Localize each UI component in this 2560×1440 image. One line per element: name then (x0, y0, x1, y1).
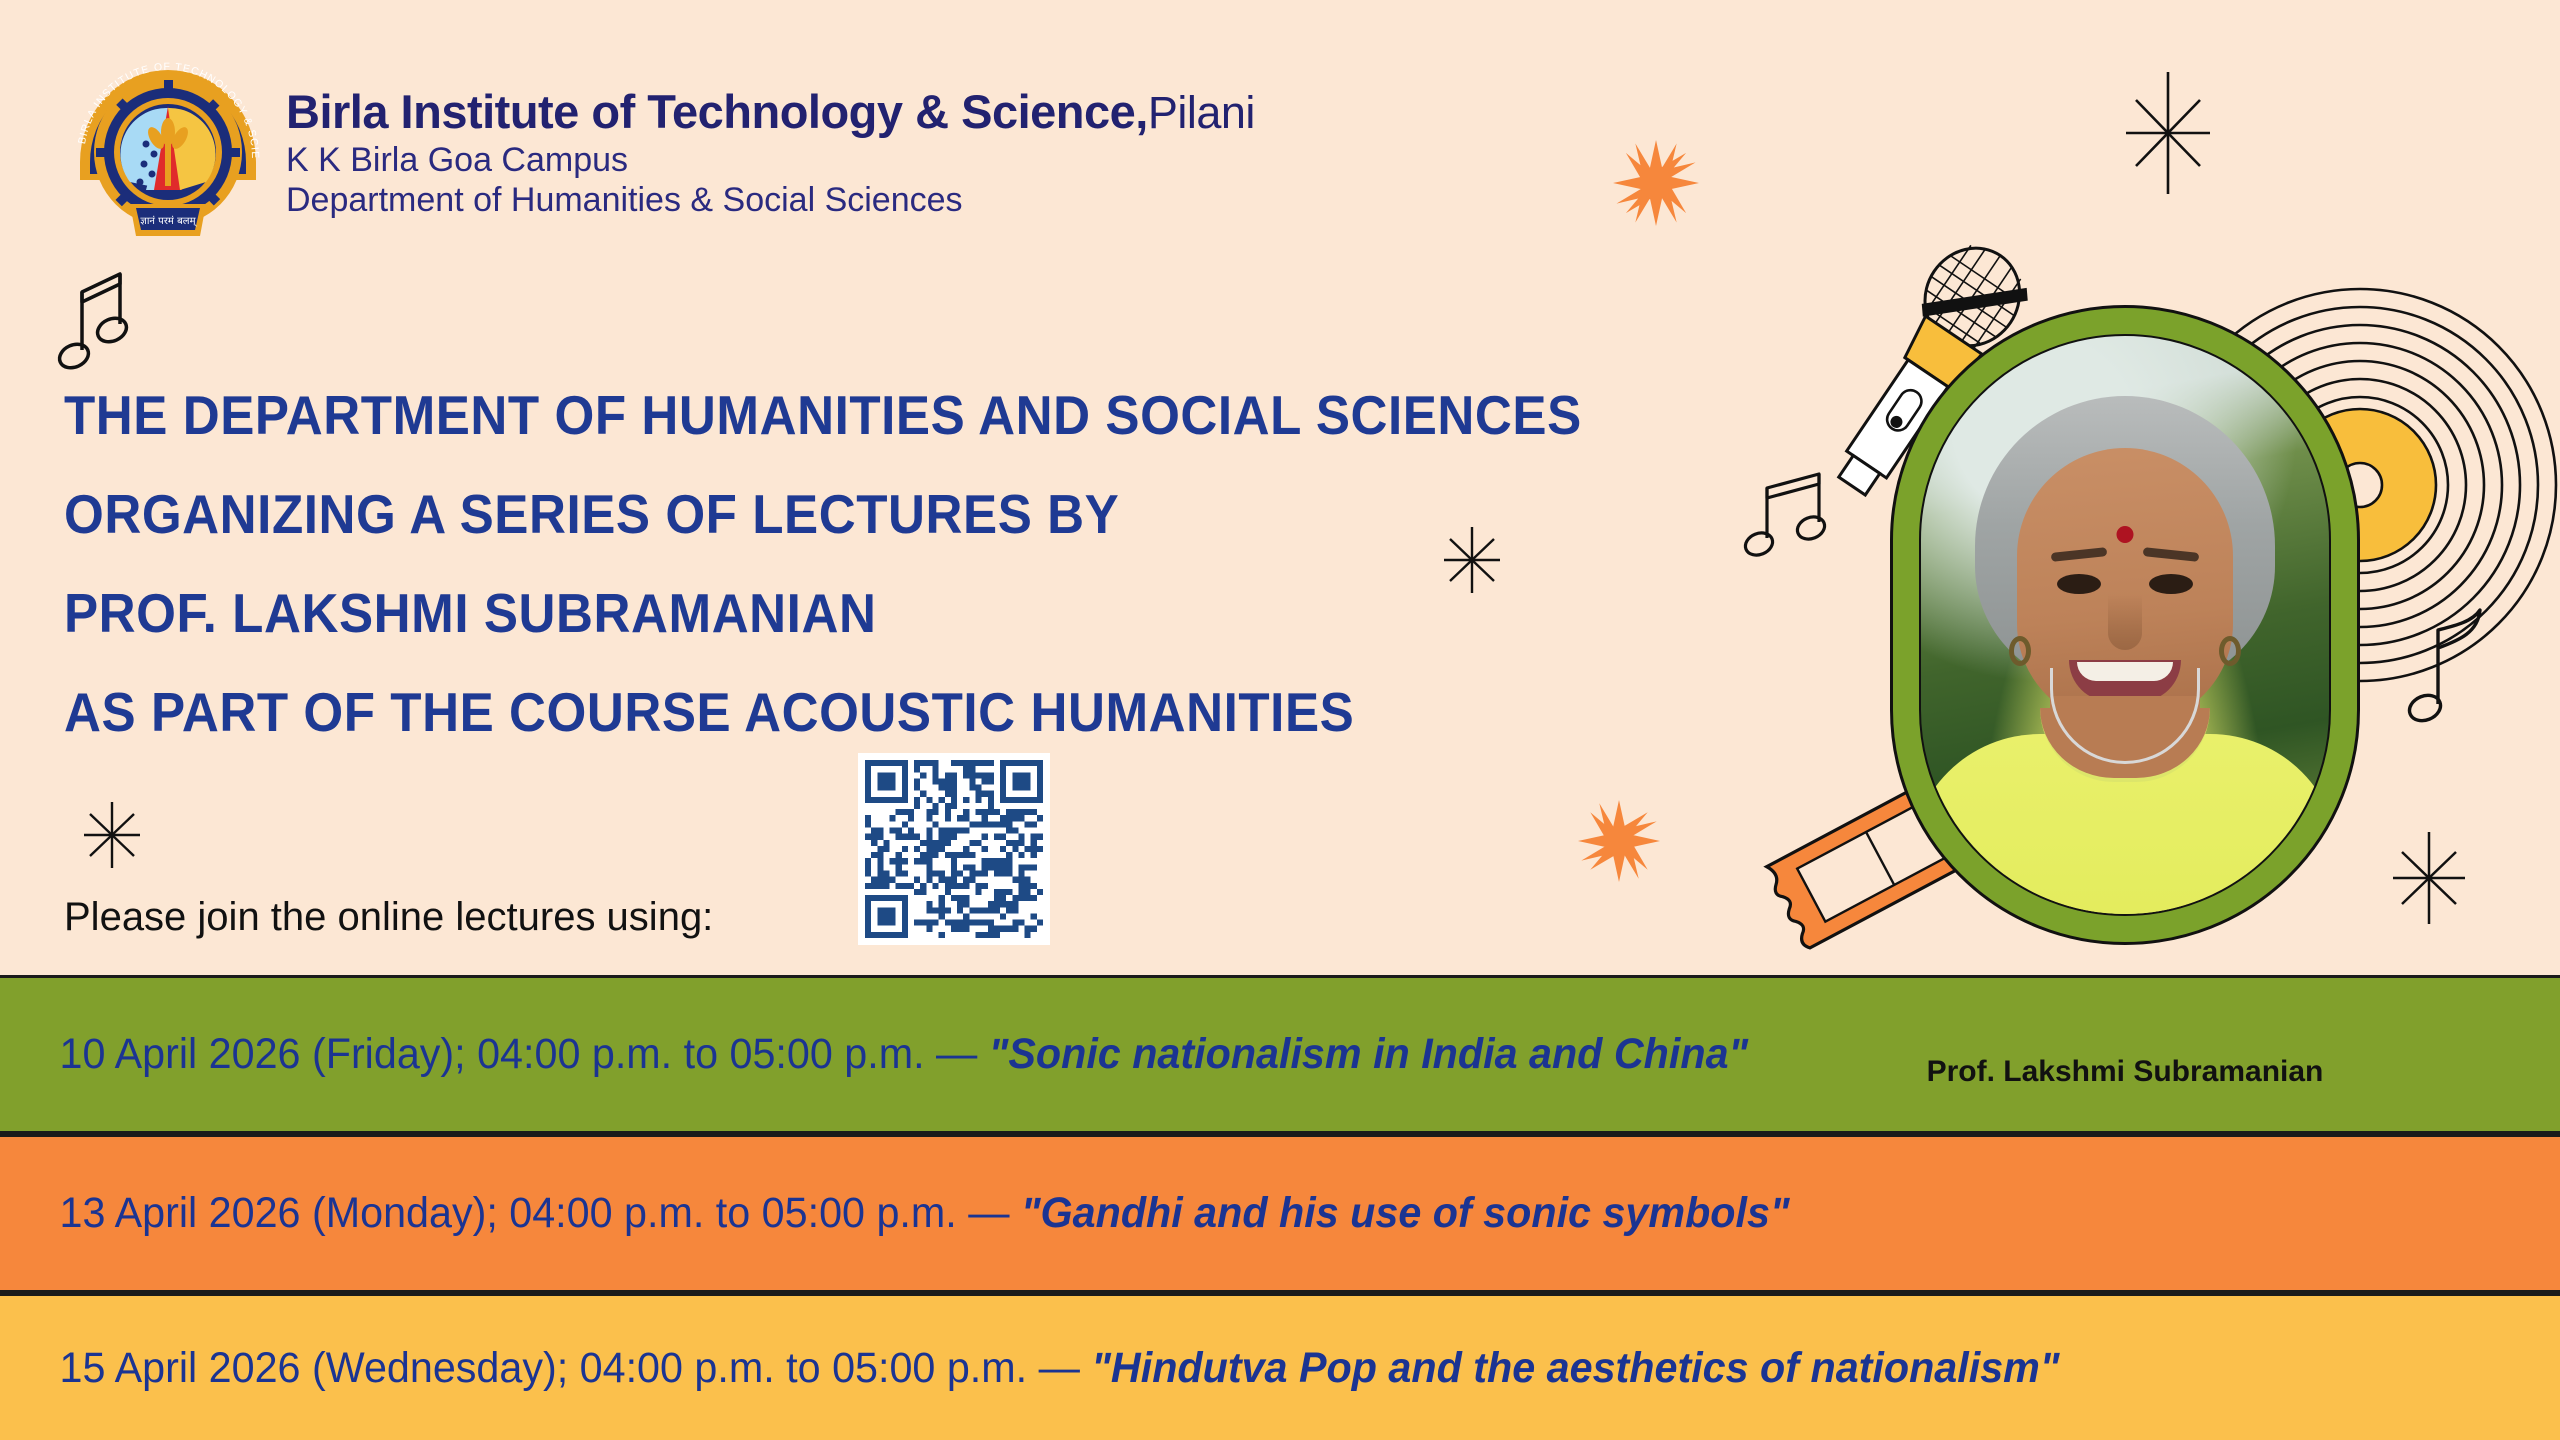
lecture-text-2: 13 April 2026 (Monday); 04:00 p.m. to 05… (0, 1189, 1790, 1238)
lecture-datetime-1: 10 April 2026 (Friday); 04:00 p.m. to 05… (60, 1030, 989, 1078)
portrait-eye-left (2057, 574, 2101, 594)
asterisk-star-icon (80, 800, 144, 870)
lecture-row-3: 15 April 2026 (Wednesday); 04:00 p.m. to… (0, 1293, 2560, 1440)
lecture-title-1: "Sonic nationalism in India and China" (989, 1030, 1748, 1078)
campus-name: K K Birla Goa Campus (286, 143, 1255, 179)
starburst-icon (1613, 140, 1699, 226)
department-name: Department of Humanities & Social Scienc… (286, 183, 1255, 219)
lecture-datetime-2: 13 April 2026 (Monday); 04:00 p.m. to 05… (60, 1189, 1021, 1237)
music-note-icon (60, 258, 148, 378)
portrait-bindi (2117, 526, 2134, 543)
speaker-caption: Prof. Lakshmi Subramanian (1890, 1055, 2360, 1089)
lecture-title-3: "Hindutva Pop and the aesthetics of nati… (1091, 1344, 2059, 1392)
institute-name-pilani: Pilani (1148, 87, 1255, 138)
portrait-earring-left (2009, 636, 2031, 666)
institute-titles: Birla Institute of Technology & Science,… (286, 40, 1255, 218)
join-instruction: Please join the online lectures using: (64, 895, 713, 940)
portrait-nose (2108, 594, 2142, 650)
qr-code-canvas (865, 760, 1043, 938)
bits-pilani-emblem-icon: ज्ञानं परमं बलम् BIRLA INSTITUTE OF TECH… (68, 40, 268, 245)
starburst-icon (1578, 800, 1660, 882)
music-note-icon (1745, 468, 1845, 564)
asterisk-star-icon (2122, 70, 2214, 196)
headline-line-2: ORGANIZING A SERIES OF LECTURES BY (64, 465, 1582, 564)
portrait-earring-right (2219, 636, 2241, 666)
lecture-text-3: 15 April 2026 (Wednesday); 04:00 p.m. to… (0, 1344, 2059, 1393)
lecture-row-2: 13 April 2026 (Monday); 04:00 p.m. to 05… (0, 1134, 2560, 1293)
portrait-eye-right (2149, 574, 2193, 594)
speaker-photo (1919, 334, 2331, 916)
lecture-datetime-3: 15 April 2026 (Wednesday); 04:00 p.m. to… (60, 1344, 1092, 1392)
lecture-text-1: 10 April 2026 (Friday); 04:00 p.m. to 05… (0, 1030, 1748, 1079)
qr-code-meeting-link[interactable] (858, 753, 1050, 945)
headline-line-4: AS PART OF THE COURSE ACOUSTIC HUMANITIE… (64, 663, 1582, 762)
speaker-portrait (1890, 305, 2360, 945)
headline-line-3: PROF. LAKSHMI SUBRAMANIAN (64, 564, 1582, 663)
page-title: THE DEPARTMENT OF HUMANITIES AND SOCIAL … (64, 366, 1696, 762)
institute-header: ज्ञानं परमं बलम् BIRLA INSTITUTE OF TECH… (68, 40, 1255, 245)
institute-name: Birla Institute of Technology & Science,… (286, 88, 1255, 135)
svg-text:ज्ञानं परमं बलम्: ज्ञानं परमं बलम् (140, 215, 197, 227)
asterisk-star-icon (2390, 830, 2468, 926)
headline-line-1: THE DEPARTMENT OF HUMANITIES AND SOCIAL … (64, 366, 1582, 465)
lecture-title-2: "Gandhi and his use of sonic symbols" (1021, 1189, 1790, 1237)
